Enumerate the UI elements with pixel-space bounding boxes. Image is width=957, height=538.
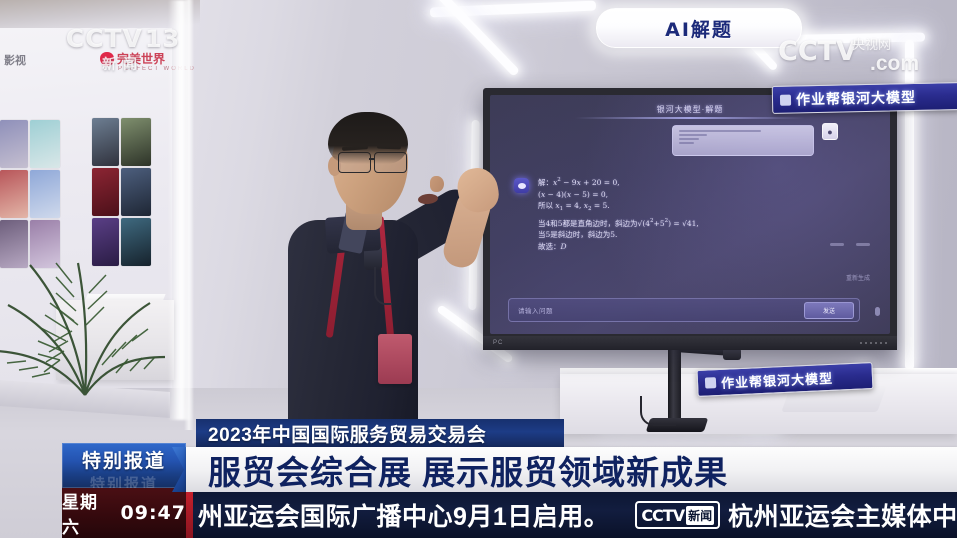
headline-bar: 服贸会综合展 展示服贸领域新成果 <box>186 447 957 492</box>
regenerate-button[interactable]: 重新生成 <box>846 273 870 282</box>
booth-section-label: 影视 <box>4 52 26 68</box>
nose <box>430 176 444 192</box>
solution-text: 解：x2 − 9x + 20 = 0, (x − 4)(x − 5) = 0, … <box>538 175 788 252</box>
monitor-screen[interactable]: 银河大模型·解题 ● 解：x2 − 9x + 20 = 0, (x − 4)(x… <box>490 95 890 334</box>
booth-brand-text: 完美世界 <box>117 50 165 67</box>
special-report-reflection: 特别报道 <box>90 473 158 488</box>
headline-subtitle: 2023年中国国际服务贸易交易会 <box>208 420 486 447</box>
send-button[interactable]: 发送 <box>804 302 854 319</box>
sign-text: 作业帮银河大模型 <box>721 368 834 392</box>
share-icon[interactable] <box>856 243 870 246</box>
solution-line: 当4和5都是直角边时，斜边为√(42+52) = √41, <box>538 216 788 230</box>
answer-action-row[interactable] <box>830 243 870 246</box>
solution-line: 解：x2 − 9x + 20 = 0, <box>538 175 788 189</box>
user-avatar-icon: ● <box>822 123 838 140</box>
sign-logo-icon <box>780 94 791 105</box>
id-badge <box>378 334 412 384</box>
special-report-badge: 特别报道 特别报道 <box>62 443 186 488</box>
solution-line: 当5是斜边时，斜边为5. <box>538 229 788 241</box>
monitor-bezel-chin: PC <box>483 336 897 350</box>
poster <box>121 168 151 216</box>
question-text-line <box>679 142 694 144</box>
microphone-wire <box>374 267 392 305</box>
booth-brand-left: 完美世界 <box>100 50 165 67</box>
input-placeholder: 请输入问题 <box>518 305 553 315</box>
clock-time: 09:47 <box>121 502 186 524</box>
demo-monitor: 银河大模型·解题 ● 解：x2 − 9x + 20 = 0, (x − 4)(x… <box>483 88 897 350</box>
microphone-icon[interactable] <box>875 307 880 316</box>
headline-subtitle-bar: 2023年中国国际服务贸易交易会 <box>196 419 564 447</box>
copy-icon[interactable] <box>830 243 844 246</box>
poster <box>0 220 28 268</box>
question-text-line <box>679 138 699 140</box>
ai-topic-label: AI解题 <box>665 15 733 42</box>
booth-sign-top: 作业帮银河大模型 <box>772 82 957 114</box>
poster <box>92 218 119 266</box>
cctv-news-logo-icon: CCTV 新闻 <box>635 501 720 529</box>
left-display-plinth <box>56 300 174 380</box>
power-cable <box>640 396 676 426</box>
question-card[interactable] <box>672 125 814 156</box>
screen-header-title: 银河大模型·解题 <box>657 104 724 115</box>
ai-topic-banner: AI解题 <box>596 8 802 48</box>
headline-text: 服贸会综合展 展示服贸领域新成果 <box>208 446 728 494</box>
ticker-left-text: 州亚运会国际广播中心9月1日启用。 <box>198 497 609 533</box>
solution-line: 所以 x1 = 4, x2 = 5. <box>538 200 788 216</box>
perfect-world-logo-icon <box>100 52 114 66</box>
solution-line: (x − 4)(x − 5) = 0, <box>538 189 788 201</box>
sign-text: 作业帮银河大模型 <box>796 87 916 110</box>
poster <box>0 120 28 168</box>
ticker-logo-brand: CCTV <box>641 506 684 525</box>
solution-line: 故选：D <box>538 241 788 253</box>
weekday-label: 星期六 <box>62 488 112 538</box>
question-text-line <box>679 134 707 136</box>
power-indicator-icon <box>860 342 887 344</box>
presenter <box>282 112 512 428</box>
question-input[interactable]: 请输入问题 发送 <box>508 298 860 322</box>
ticker-right-text: 杭州亚运会主媒体中心各功能 <box>728 497 957 533</box>
poster <box>92 118 119 166</box>
poster <box>30 220 60 268</box>
ai-assistant-icon <box>514 178 529 193</box>
clock-strip: 星期六 09:47 <box>62 488 186 538</box>
poster <box>30 120 60 168</box>
special-report-label: 特别报道 <box>82 446 166 473</box>
screen-header-underline <box>575 117 805 119</box>
ticker-accent-bar <box>186 492 193 538</box>
news-ticker: 州亚运会国际广播中心9月1日启用。 CCTV 新闻 杭州亚运会主媒体中心各功能 <box>186 492 957 538</box>
ticker-logo-cn: 新闻 <box>686 506 714 525</box>
hair <box>328 112 408 164</box>
poster <box>121 118 151 166</box>
poster <box>121 218 151 266</box>
sign-logo-icon <box>705 377 716 388</box>
poster <box>92 168 119 216</box>
broadcast-frame: 影视 完美世界 PERFECT WORLD <box>0 0 957 538</box>
wall-light-seam <box>184 0 194 430</box>
poster <box>30 170 60 218</box>
poster <box>0 170 28 218</box>
question-text-line <box>679 130 761 132</box>
